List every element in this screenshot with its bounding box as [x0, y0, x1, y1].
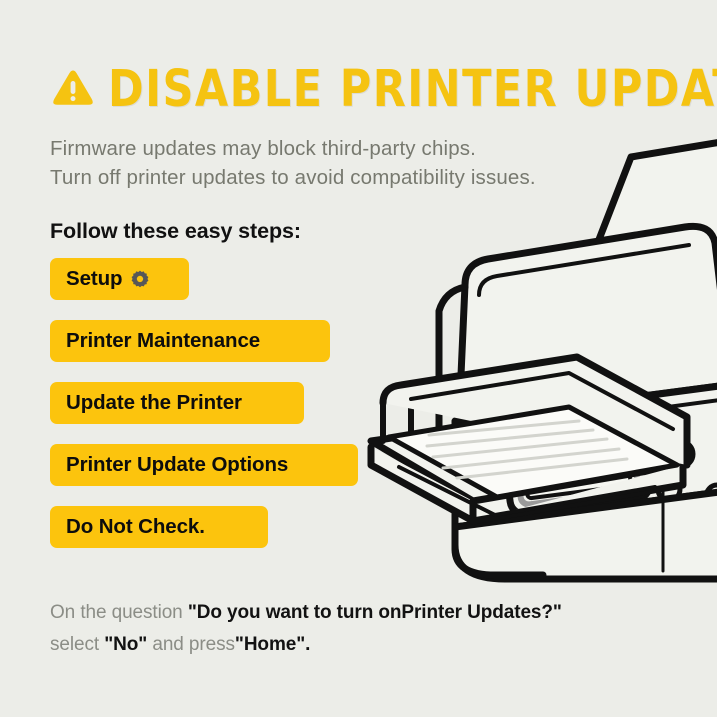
footnote-line2-quote-home: "Home".	[235, 634, 310, 655]
printer-control-panel-face	[455, 385, 717, 527]
printer-output-tray-inner-lip	[399, 467, 655, 515]
footnote-line-1: On the question "Do you want to turn onP…	[50, 597, 562, 629]
page-title: DISABLE PRINTER UPDATES	[108, 63, 717, 113]
step-pill-setup[interactable]: Setup	[50, 258, 189, 300]
printer-tray-rail	[383, 357, 687, 465]
footnote-block: On the question "Do you want to turn onP…	[50, 597, 562, 661]
printer-top-deck	[459, 226, 717, 420]
poster-canvas: DISABLE PRINTER UPDATES Firmware updates…	[0, 0, 717, 717]
step-pill-printer-maintenance[interactable]: Printer Maintenance	[50, 320, 330, 362]
inkjet-printer-illustration	[355, 135, 717, 585]
subtitle-line-2: Turn off printer updates to avoid compat…	[50, 163, 536, 192]
printer-lower-body	[455, 491, 717, 579]
printer-panel-upper-seam	[459, 399, 717, 435]
printer-button-bottom-left	[658, 477, 680, 501]
step-pill-label: Do Not Check.	[66, 515, 205, 539]
printer-display-inner-ring	[515, 441, 638, 506]
step-pill-label: Printer Maintenance	[66, 329, 260, 353]
steps-heading: Follow these easy steps:	[50, 219, 301, 244]
footnote-line2-quote-no: "No"	[104, 634, 147, 655]
printer-button-top-left	[671, 442, 693, 466]
footnote-line2-mid: and press	[147, 634, 235, 655]
printer-lid-seam	[479, 245, 689, 295]
footnote-line-2: select "No" and press"Home".	[50, 629, 562, 661]
subtitle-block: Firmware updates may block third-party c…	[50, 134, 536, 192]
printer-button-bottom-right	[706, 485, 717, 509]
step-pill-do-not-check[interactable]: Do Not Check.	[50, 506, 268, 548]
headline: DISABLE PRINTER UPDATES	[52, 66, 717, 111]
footnote-line1-prefix: On the question	[50, 602, 188, 623]
steps-list: Setup Printer Maintenance Update the Pri…	[50, 258, 358, 548]
warning-triangle-icon	[52, 69, 94, 109]
step-pill-update-the-printer[interactable]: Update the Printer	[50, 382, 304, 424]
printer-tray-bottom-shelf	[455, 527, 543, 575]
subtitle-line-1: Firmware updates may block third-party c…	[50, 134, 536, 163]
printer-display-screen	[523, 447, 631, 498]
step-pill-label: Update the Printer	[66, 391, 242, 415]
printed-paper-sheet	[389, 407, 677, 497]
step-pill-label: Setup	[66, 267, 122, 291]
printer-left-shoulder	[439, 287, 465, 449]
printer-display-bezel	[503, 430, 651, 515]
rear-paper-guide	[531, 267, 571, 336]
printer-output-tray-flap	[371, 411, 683, 501]
printed-paper-text-lines	[427, 421, 627, 478]
gear-icon	[131, 270, 149, 288]
step-pill-printer-update-options[interactable]: Printer Update Options	[50, 444, 358, 486]
printer-output-tray-flap-edge	[371, 447, 473, 521]
step-pill-label: Printer Update Options	[66, 453, 288, 477]
footnote-line1-quote: "Do you want to turn onPrinter Updates?"	[188, 602, 562, 623]
printer-tray-rail-inner	[411, 373, 673, 429]
printer-output-tray-flap-lip	[473, 465, 683, 521]
footnote-line2-prefix: select	[50, 634, 104, 655]
rear-paper-feed-tray	[560, 141, 717, 340]
printer-lid-latch	[531, 375, 589, 397]
